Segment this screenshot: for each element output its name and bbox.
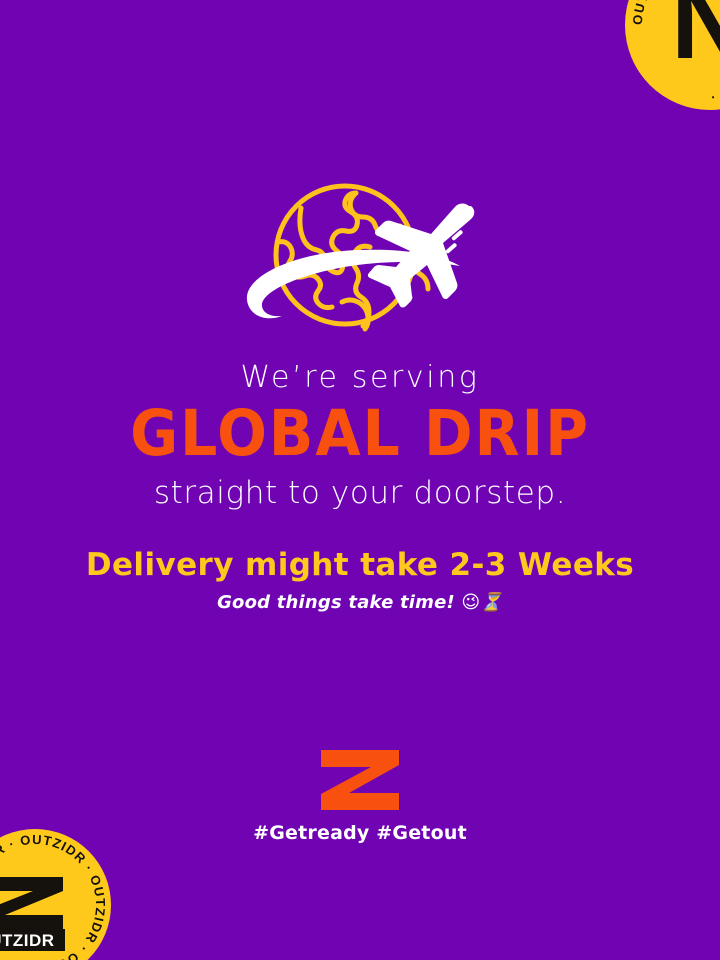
brand-badge-top-right: OUTZIDR · OUTZIDR · OUTZIDR · OUTZIDR · … [625,0,720,110]
delivery-headline: Delivery might take 2-3 Weeks [0,548,720,583]
globe-airplane-illustration [238,180,482,340]
brand-badge-bottom-left: OUTZIDR · OUTZIDR · OUTZIDR · OUTZIDR · … [0,829,111,960]
svg-text:N: N [671,0,720,81]
svg-text:OUTZIDR: OUTZIDR [0,931,55,950]
z-logo-mark [319,748,401,812]
delivery-notice: Delivery might take 2-3 Weeks Good thing… [0,548,720,613]
headline-block: We’re serving GLOBAL DRIP straight to yo… [0,362,720,510]
eyebrow-text: We’re serving [0,362,720,394]
badge-z-glyph [0,877,63,929]
badge-center-glyph-top-right: N [671,0,720,81]
badge-wordmark-bottom-left: OUTZIDR [0,929,65,951]
delivery-note: Good things take time! 😉⏳ [0,592,720,613]
promo-poster: We’re serving GLOBAL DRIP straight to yo… [0,0,720,960]
page-title: GLOBAL DRIP [25,402,695,466]
subheadline-text: straight to your doorstep. [0,476,720,510]
